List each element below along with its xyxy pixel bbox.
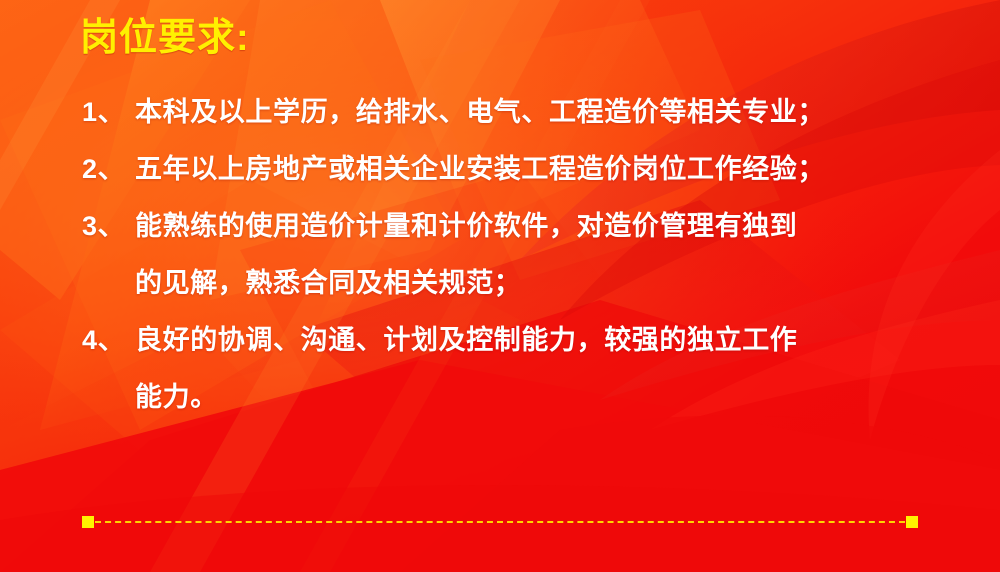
requirement-line-continuation: 的见解，熟悉合同及相关规范； <box>0 261 1000 318</box>
requirement-line-continuation: 能力。 <box>0 375 1000 432</box>
page-title: 岗位要求: <box>80 16 250 62</box>
slide-canvas: 岗位要求: 1、 本科及以上学历，给排水、电气、工程造价等相关专业； 2、 五年… <box>0 0 1000 572</box>
requirement-text: 能力。 <box>135 375 218 419</box>
divider-dashed-line <box>95 521 905 523</box>
requirement-text: 的见解，熟悉合同及相关规范； <box>135 261 521 305</box>
requirement-line: 3、 能熟练的使用造价计量和计价软件，对造价管理有独到 <box>0 204 1000 261</box>
slide-content: 岗位要求: 1、 本科及以上学历，给排水、电气、工程造价等相关专业； 2、 五年… <box>0 0 1000 572</box>
requirement-number: 3、 <box>82 204 135 248</box>
requirement-number: 1、 <box>82 90 135 134</box>
requirement-text: 五年以上房地产或相关企业安装工程造价岗位工作经验； <box>135 147 825 191</box>
requirement-text: 良好的协调、沟通、计划及控制能力，较强的独立工作 <box>135 318 797 362</box>
requirement-text: 能熟练的使用造价计量和计价软件，对造价管理有独到 <box>135 204 797 248</box>
divider-left-square-icon <box>82 516 94 528</box>
requirement-number: 2、 <box>82 147 135 191</box>
requirement-line: 2、 五年以上房地产或相关企业安装工程造价岗位工作经验； <box>0 147 1000 204</box>
dashed-divider <box>82 515 918 529</box>
divider-right-square-icon <box>906 516 918 528</box>
requirement-text: 本科及以上学历，给排水、电气、工程造价等相关专业； <box>135 90 825 134</box>
requirements-list: 1、 本科及以上学历，给排水、电气、工程造价等相关专业； 2、 五年以上房地产或… <box>0 90 1000 432</box>
requirement-line: 4、 良好的协调、沟通、计划及控制能力，较强的独立工作 <box>0 318 1000 375</box>
requirement-number: 4、 <box>82 318 135 362</box>
requirement-line: 1、 本科及以上学历，给排水、电气、工程造价等相关专业； <box>0 90 1000 147</box>
